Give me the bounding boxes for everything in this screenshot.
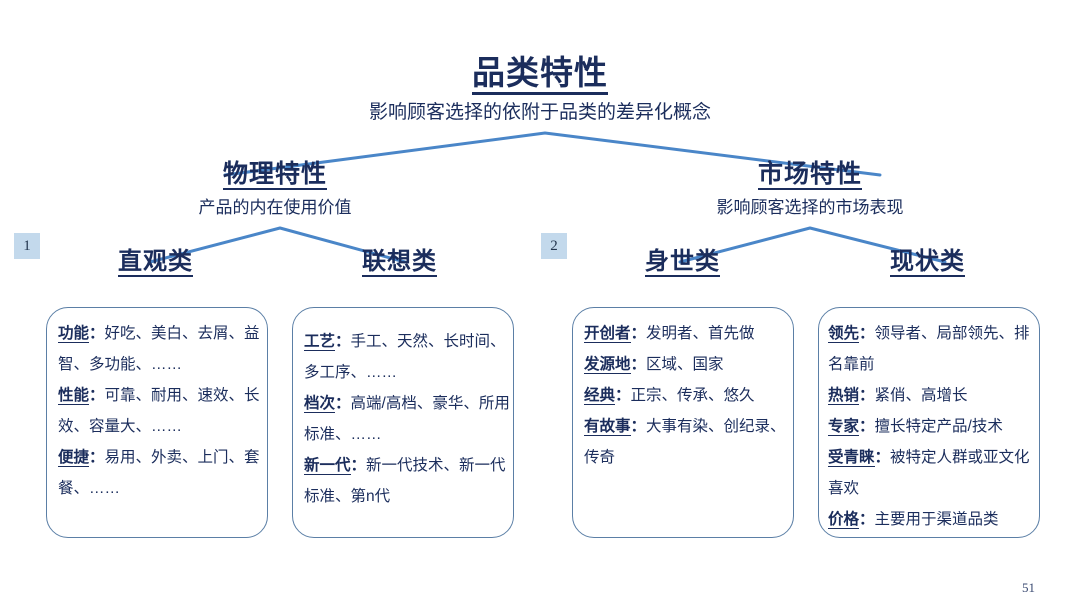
leaf-entry-key: 便捷: [58, 449, 89, 467]
leaf-entry-separator: ：: [875, 449, 891, 466]
slide-canvas: 品类特性 影响顾客选择的依附于品类的差异化概念 物理特性 产品的内在使用价值 1…: [0, 0, 1080, 603]
leaf-content-1-2: 工艺：手工、天然、长时间、多工序、……档次：高端/高档、豪华、所用标准、……新一…: [304, 326, 510, 512]
leaf-entry: 工艺：手工、天然、长时间、多工序、……: [304, 326, 510, 388]
leaf-entry-key: 性能: [58, 387, 89, 405]
leaf-entry: 受青睐：被特定人群或亚文化喜欢: [828, 442, 1038, 504]
leaf-entry-separator: ：: [859, 387, 875, 404]
branch-2-title-text: 市场特性: [758, 161, 862, 190]
branch-1-subtitle: 产品的内在使用价值: [95, 199, 455, 218]
leaf-entry: 价格：主要用于渠道品类: [828, 504, 1038, 535]
leaf-entry-separator: ：: [335, 395, 351, 412]
leaf-1-2-title-text: 联想类: [362, 249, 437, 277]
leaf-entry-key: 经典: [584, 387, 615, 405]
leaf-entry-separator: ：: [859, 325, 875, 342]
leaf-entry-separator: ：: [89, 325, 105, 342]
leaf-entry-separator: ：: [89, 387, 105, 404]
leaf-entry-separator: ：: [859, 511, 875, 528]
leaf-entry-key: 功能: [58, 325, 89, 343]
root-subtitle: 影响顾客选择的依附于品类的差异化概念: [0, 103, 1080, 124]
leaf-entry-value: 紧俏、高增长: [875, 387, 968, 404]
branch-2-title: 市场特性: [620, 161, 1000, 190]
leaf-2-1-title-text: 身世类: [645, 249, 720, 277]
leaf-entry-separator: ：: [631, 325, 647, 342]
branch-1-title-text: 物理特性: [223, 161, 327, 190]
leaf-entry: 新一代：新一代技术、新一代标准、第n代: [304, 450, 510, 512]
leaf-entry: 功能：好吃、美白、去屑、益智、多功能、……: [58, 318, 264, 380]
root-title: 品类特性: [0, 56, 1080, 95]
leaf-entry-value: 区域、国家: [646, 356, 724, 373]
leaf-title-现状类: 现状类: [820, 249, 1035, 277]
leaf-2-2-title-text: 现状类: [890, 249, 965, 277]
leaf-title-直观类: 直观类: [48, 249, 263, 277]
leaf-entry-separator: ：: [335, 333, 351, 350]
leaf-entry-separator: ：: [89, 449, 105, 466]
leaf-content-2-2: 领先：领导者、局部领先、排名靠前热销：紧俏、高增长专家：擅长特定产品/技术受青睐…: [828, 318, 1038, 535]
branch-1-title: 物理特性: [95, 161, 455, 190]
leaf-entry-separator: ：: [859, 418, 875, 435]
leaf-entry-key: 领先: [828, 325, 859, 343]
leaf-entry-value: 正宗、传承、悠久: [631, 387, 755, 404]
leaf-entry-key: 热销: [828, 387, 859, 405]
leaf-entry-separator: ：: [351, 457, 367, 474]
leaf-entry: 开创者：发明者、首先做: [584, 318, 790, 349]
leaf-entry: 领先：领导者、局部领先、排名靠前: [828, 318, 1038, 380]
leaf-entry-key: 档次: [304, 395, 335, 413]
leaf-entry-key: 工艺: [304, 333, 335, 351]
leaf-content-2-1: 开创者：发明者、首先做发源地：区域、国家经典：正宗、传承、悠久有故事：大事有染、…: [584, 318, 790, 473]
leaf-entry-key: 专家: [828, 418, 859, 436]
leaf-entry-key: 开创者: [584, 325, 631, 343]
leaf-content-1-1: 功能：好吃、美白、去屑、益智、多功能、……性能：可靠、耐用、速效、长效、容量大、…: [58, 318, 264, 504]
marker-1: 1: [14, 233, 40, 259]
leaf-entry: 性能：可靠、耐用、速效、长效、容量大、……: [58, 380, 264, 442]
leaf-entry-value: 主要用于渠道品类: [875, 511, 999, 528]
leaf-entry-value: 擅长特定产品/技术: [875, 418, 1003, 435]
leaf-entry-key: 价格: [828, 511, 859, 529]
leaf-entry-value: 发明者、首先做: [646, 325, 755, 342]
root-title-text: 品类特性: [472, 56, 608, 95]
leaf-entry: 经典：正宗、传承、悠久: [584, 380, 790, 411]
leaf-entry-key: 新一代: [304, 457, 351, 475]
leaf-entry-separator: ：: [631, 418, 647, 435]
leaf-entry: 发源地：区域、国家: [584, 349, 790, 380]
leaf-entry-key: 受青睐: [828, 449, 875, 467]
leaf-entry: 有故事：大事有染、创纪录、传奇: [584, 411, 790, 473]
branch-2-subtitle: 影响顾客选择的市场表现: [620, 199, 1000, 218]
leaf-entry: 便捷：易用、外卖、上门、套餐、……: [58, 442, 264, 504]
leaf-entry-separator: ：: [615, 387, 631, 404]
leaf-entry-key: 有故事: [584, 418, 631, 436]
leaf-entry: 专家：擅长特定产品/技术: [828, 411, 1038, 442]
leaf-1-1-title-text: 直观类: [118, 249, 193, 277]
leaf-entry-separator: ：: [631, 356, 647, 373]
leaf-entry-key: 发源地: [584, 356, 631, 374]
marker-2: 2: [541, 233, 567, 259]
page-number: 51: [1022, 580, 1035, 596]
leaf-title-联想类: 联想类: [292, 249, 507, 277]
leaf-entry: 热销：紧俏、高增长: [828, 380, 1038, 411]
leaf-entry: 档次：高端/高档、豪华、所用标准、……: [304, 388, 510, 450]
leaf-title-身世类: 身世类: [575, 249, 790, 277]
